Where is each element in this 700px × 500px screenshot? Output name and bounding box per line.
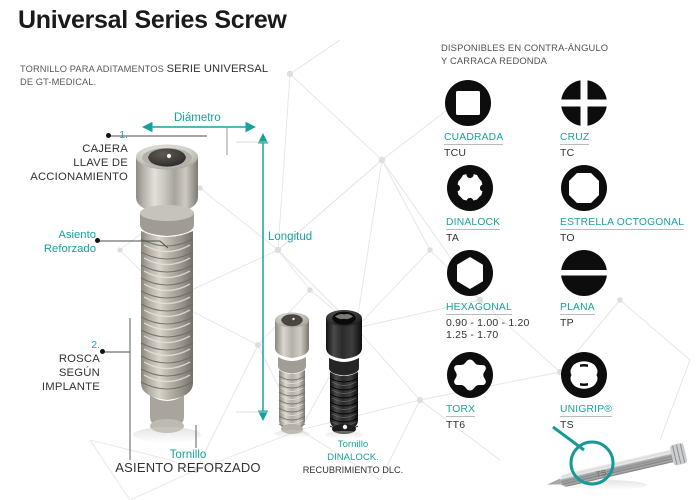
- callout-2-line3: IMPLANTE: [0, 380, 100, 394]
- icon-label-dinalock: DINALOCK: [446, 217, 500, 230]
- icon-grid-heading-line1: DISPONIBLES EN CONTRA-ÁNGULO: [441, 42, 608, 53]
- icon-cell-cuadrada[interactable]: CUADRADA TCU: [444, 79, 503, 159]
- caption-dinalock-dlc: Tornillo DINALOCK. RECUBRIMIENTO DLC.: [288, 438, 418, 477]
- callout-2-number: 2.: [0, 338, 100, 352]
- icon-label-plana: PLANA: [560, 302, 595, 315]
- icon-cell-torx[interactable]: TORX TT6: [446, 351, 494, 431]
- callout-rosca: 2. ROSCA SEGÚN IMPLANTE: [0, 338, 100, 394]
- icon-cell-unigrip[interactable]: UNIGRIP® TS: [560, 351, 612, 431]
- dinalock-socket-icon: [446, 164, 494, 212]
- icon-label-unigrip: UNIGRIP®: [560, 404, 612, 417]
- callout-2-line2: SEGÚN: [0, 366, 100, 380]
- icon-cell-dinalock[interactable]: DINALOCK TA: [446, 164, 500, 244]
- callout-2-dot: [100, 349, 105, 354]
- cap-right-line3: RECUBRIMIENTO DLC.: [288, 464, 418, 477]
- icon-code-hexagonal: 0.90 - 1.00 - 1.20: [446, 317, 530, 329]
- cross-socket-icon: [560, 79, 608, 127]
- icon-cell-estrella-octogonal[interactable]: ESTRELLA OCTOGONAL TO: [560, 164, 684, 244]
- callout-seat-line1: Asiento: [0, 228, 96, 242]
- icon-cell-hexagonal[interactable]: HEXAGONAL 0.90 - 1.00 - 1.20 1.25 - 1.70: [446, 249, 530, 341]
- icon-code-estrella-octogonal: TO: [560, 232, 684, 244]
- callout-cajera: 1. CAJERA LLAVE DE ACCIONAMIENTO: [0, 128, 128, 184]
- octagonal-star-socket-icon: [560, 164, 608, 212]
- callout-1-number: 1.: [0, 128, 128, 142]
- icon-code-cuadrada: TCU: [444, 147, 503, 159]
- callout-asiento-reforzado: Asiento Reforzado: [0, 228, 96, 256]
- icon-code-dinalock: TA: [446, 232, 500, 244]
- flat-slot-socket-icon: [560, 249, 608, 297]
- cap-left-line2: ASIENTO REFORZADO: [108, 461, 268, 474]
- square-socket-icon: [444, 79, 492, 127]
- icon-code-plana: TP: [560, 317, 608, 329]
- callout-1-line3: ACCIONAMIENTO: [0, 170, 128, 184]
- icon-code-torx: TT6: [446, 419, 494, 431]
- icon-cell-plana[interactable]: PLANA TP: [560, 249, 608, 329]
- callout-2-line1: ROSCA: [0, 352, 100, 366]
- icon-grid-heading: DISPONIBLES EN CONTRA-ÁNGULO Y CARRACA R…: [441, 42, 608, 67]
- icon-cell-cruz[interactable]: CRUZ TC: [560, 79, 608, 159]
- hexagonal-socket-icon: [446, 249, 494, 297]
- icon-grid-heading-line2: Y CARRACA REDONDA: [441, 55, 547, 66]
- torx-socket-icon: [446, 351, 494, 399]
- icon-code-hexagonal-2: 1.25 - 1.70: [446, 329, 530, 341]
- small-black-dlc-screw-illustration: [316, 305, 372, 438]
- icon-label-cruz: CRUZ: [560, 132, 589, 145]
- icon-label-torx: TORX: [446, 404, 475, 417]
- cap-right-line2: DINALOCK.: [288, 451, 418, 464]
- infographic-root: Universal Series Screw TORNILLO PARA ADI…: [0, 0, 700, 500]
- screwdriver-tool-illustration: TS: [545, 425, 697, 500]
- unigrip-socket-icon: [560, 351, 608, 399]
- callout-seat-line2: Reforzado: [0, 242, 96, 256]
- callout-1-line2: LLAVE DE: [0, 156, 128, 170]
- caption-asiento-reforzado: Tornillo ASIENTO REFORZADO: [108, 448, 268, 474]
- icon-label-hexagonal: HEXAGONAL: [446, 302, 512, 315]
- icon-code-cruz: TC: [560, 147, 608, 159]
- icon-label-cuadrada: CUADRADA: [444, 132, 503, 145]
- highlight-leader-line: [553, 427, 584, 450]
- icon-label-estrella-octogonal: ESTRELLA OCTOGONAL: [560, 217, 684, 230]
- callout-1-line1: CAJERA: [0, 142, 128, 156]
- cap-right-line1: Tornillo: [288, 438, 418, 451]
